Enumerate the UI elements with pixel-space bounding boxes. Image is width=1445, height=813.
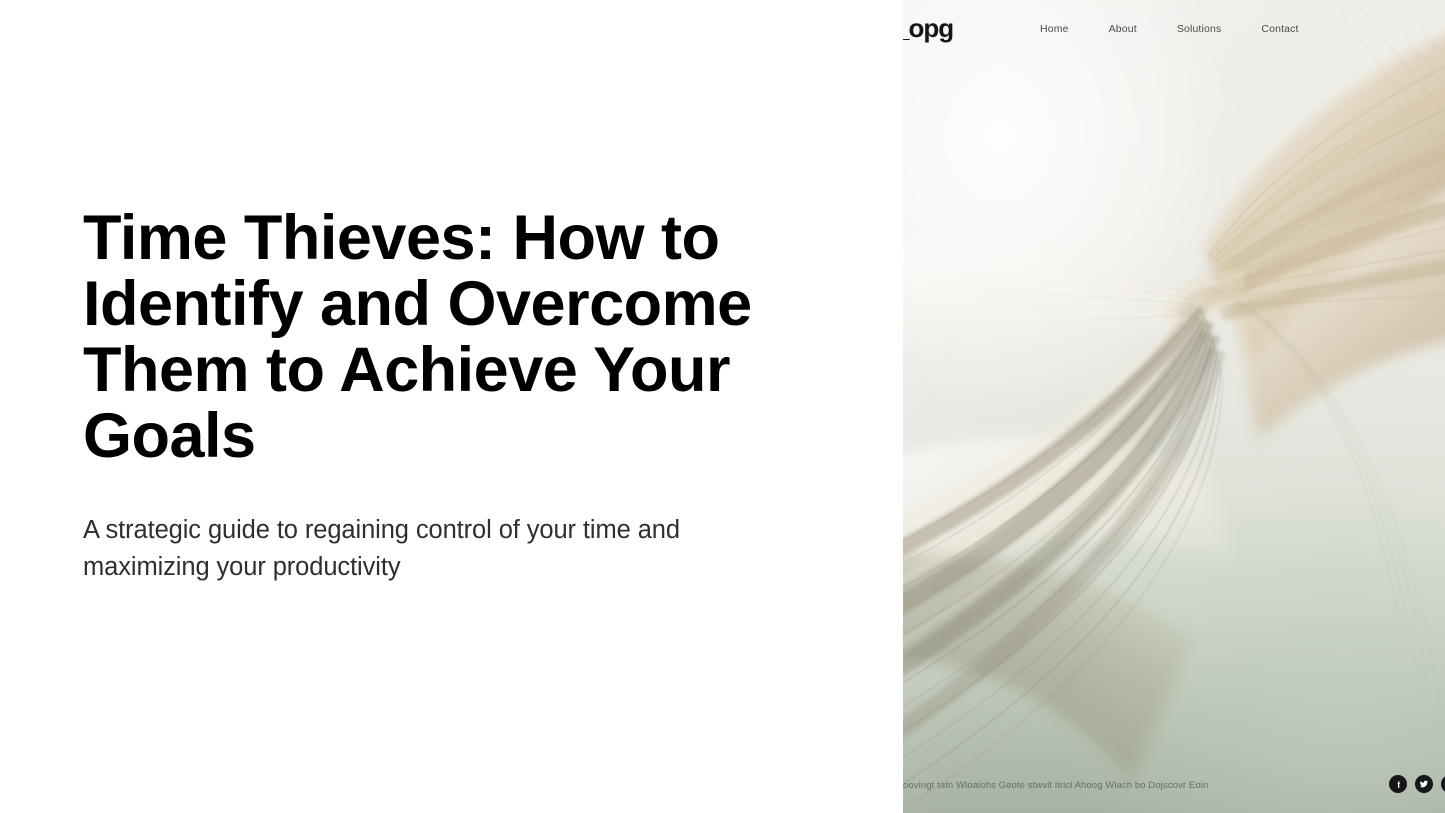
- footer-caption: oovingt tatn Wloaiohs Geote stwvit itric…: [903, 780, 1208, 791]
- facebook-icon[interactable]: [1389, 775, 1407, 793]
- nav-item-home[interactable]: Home: [1040, 23, 1069, 35]
- twitter-icon[interactable]: [1415, 775, 1433, 793]
- site-footer: oovingt tatn Wloaiohs Geote stwvit itric…: [903, 769, 1445, 791]
- article-panel: Time Thieves: How to Identify and Overco…: [0, 0, 903, 813]
- nav-item-solutions[interactable]: Solutions: [1177, 23, 1222, 35]
- nav-item-contact[interactable]: Contact: [1261, 23, 1298, 35]
- website-preview-panel: _opg Home About Solutions Contact ooving…: [903, 0, 1445, 813]
- social-links: [1389, 775, 1445, 793]
- site-nav: _opg Home About Solutions Contact: [903, 0, 1445, 60]
- instagram-icon[interactable]: [1441, 775, 1445, 793]
- nav-item-about[interactable]: About: [1109, 23, 1137, 35]
- article-text-block: Time Thieves: How to Identify and Overco…: [83, 205, 803, 586]
- article-subtitle: A strategic guide to regaining control o…: [83, 512, 795, 586]
- page-root: Time Thieves: How to Identify and Overco…: [0, 0, 1445, 813]
- site-logo[interactable]: _opg: [903, 13, 953, 44]
- page-title: Time Thieves: How to Identify and Overco…: [83, 205, 803, 470]
- nav-links: Home About Solutions Contact: [1040, 23, 1299, 35]
- abstract-fiber-artwork: [903, 0, 1445, 813]
